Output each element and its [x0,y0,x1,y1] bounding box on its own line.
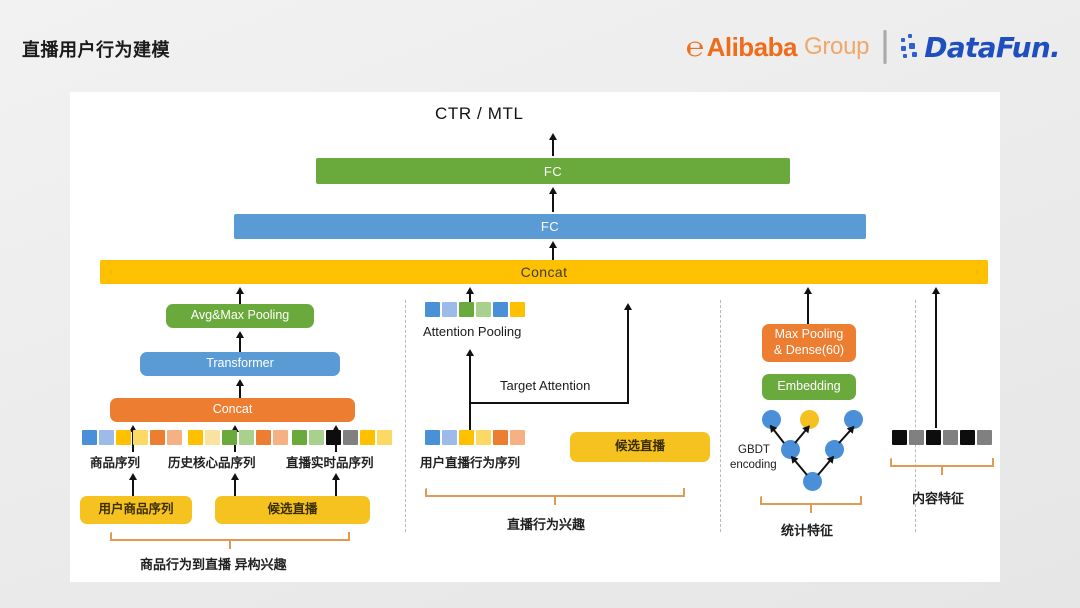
swatch-0 [82,430,97,445]
separator-1 [405,300,406,532]
swatch-5 [377,430,392,445]
gbdt-label-line2: encoding [730,459,777,471]
arrow-userlive-to-attention [465,350,475,430]
max-pooling-line2: & Dense(60) [774,343,844,359]
input-box-candidate-live-1[interactable]: 候选直播 [215,496,370,524]
datafun-logo: DataFun. [901,31,1060,64]
alibaba-group-logo: ℮ Alibaba Group [687,32,869,63]
transformer-box[interactable]: Transformer [140,352,340,376]
swatch-0 [188,430,203,445]
gbdt-edge-root-to-midright [817,456,834,476]
swatch-3 [133,430,148,445]
swatch-2 [222,430,237,445]
arrow-candidate-to-strip2 [230,474,240,496]
page-title: 直播用户行为建模 [22,36,170,62]
swatch-3 [943,430,958,445]
seq-label-2: 历史核心品序列 [168,452,256,471]
concat-branch1-label: Concat [213,402,253,418]
swatch-4 [493,302,508,317]
commodity-strip-1 [82,430,182,445]
user-live-seq-strip [425,430,525,445]
swatch-2 [459,430,474,445]
arrow-fc-green-to-output [548,134,558,156]
gbdt-label-line1: GBDT [738,444,770,456]
gbdt-edge-root-to-midleft [791,456,808,476]
swatch-1 [99,430,114,445]
alibaba-group-word: Group [804,33,869,61]
swatch-0 [425,430,440,445]
swatch-2 [459,302,474,317]
input-box-candidate-live-2-label: 候选直播 [615,439,665,455]
max-pooling-line1: Max Pooling [775,327,844,343]
arrow-concat-to-fc-blue [548,242,558,262]
brace-branch4 [890,458,994,476]
swatch-1 [309,430,324,445]
seq-label-1: 商品序列 [90,452,140,471]
target-attention-connector [469,402,629,404]
brace-branch1 [110,532,350,550]
embedding-box[interactable]: Embedding [762,374,856,400]
transformer-label: Transformer [206,356,274,372]
output-label: CTR / MTL [435,104,524,124]
swatch-5 [167,430,182,445]
gbdt-edge-midright-to-leaf3 [838,426,854,444]
swatch-1 [909,430,924,445]
concat-main-bar[interactable]: Concat [100,260,988,284]
seq-label-3: 直播实时品序列 [286,452,374,471]
swatch-5 [510,302,525,317]
swatch-2 [326,430,341,445]
arrow-fc-blue-to-fc-green [548,188,558,212]
swatch-4 [360,430,375,445]
swatch-0 [292,430,307,445]
swatch-4 [493,430,508,445]
input-box-user-commodity-seq-label: 用户商品序列 [98,502,173,518]
content-feature-strip [892,430,992,445]
diagram-canvas: CTR / MTL FC FC Concat [70,92,1000,582]
swatch-2 [116,430,131,445]
alibaba-mark-icon: ℮ [686,32,705,63]
gbdt-edge-midleft-to-leaf2 [794,426,810,444]
fc-blue-label: FC [541,219,559,234]
swatch-0 [425,302,440,317]
swatch-3 [476,430,491,445]
arrow-candidate-to-strip3 [331,474,341,496]
swatch-4 [960,430,975,445]
brace-label-branch3: 统计特征 [781,520,833,539]
swatch-0 [892,430,907,445]
arrow-transformer-to-pooling [235,332,245,352]
slide-root: 直播用户行为建模 ℮ Alibaba Group DataFun. CTR / … [0,0,1080,608]
brace-branch3 [760,496,862,514]
brace-label-branch4: 内容特征 [912,488,964,507]
swatch-4 [256,430,271,445]
swatch-1 [205,430,220,445]
swatch-1 [442,302,457,317]
commodity-strip-3 [292,430,392,445]
arrow-candidate-to-attention [623,304,633,404]
swatch-1 [442,430,457,445]
target-attention-label: Target Attention [500,378,590,393]
input-box-candidate-live-1-label: 候选直播 [267,502,317,518]
logo-bar: ℮ Alibaba Group DataFun. [687,24,1060,70]
logo-divider [883,30,887,64]
swatch-4 [150,430,165,445]
concat-branch1-box[interactable]: Concat [110,398,355,422]
input-box-user-commodity-seq[interactable]: 用户商品序列 [80,496,192,524]
separator-2 [720,300,721,532]
brace-branch2 [425,488,685,506]
attention-pooling-strip [425,302,525,317]
swatch-5 [273,430,288,445]
swatch-3 [343,430,358,445]
swatch-5 [510,430,525,445]
max-pooling-dense-box[interactable]: Max Pooling & Dense(60) [762,324,856,362]
concat-main-label: Concat [521,264,568,280]
fc-blue-bar[interactable]: FC [234,214,866,239]
attention-pooling-label: Attention Pooling [423,324,521,339]
fc-green-bar[interactable]: FC [316,158,790,184]
alibaba-wordmark: Alibaba [707,32,797,63]
avg-max-pooling-label: Avg&Max Pooling [191,308,289,324]
arrow-concat-to-transformer [235,380,245,398]
input-box-candidate-live-2[interactable]: 候选直播 [570,432,710,462]
swatch-2 [926,430,941,445]
fc-green-label: FC [544,164,562,179]
user-live-seq-label: 用户直播行为序列 [420,452,520,471]
arrow-branch4-to-concat [931,288,941,428]
datafun-dots-icon [901,34,923,60]
commodity-strip-2 [188,430,288,445]
embedding-label: Embedding [777,379,840,395]
arrow-userseq-to-strip1 [128,474,138,496]
swatch-3 [476,302,491,317]
avg-max-pooling-box[interactable]: Avg&Max Pooling [166,304,314,328]
swatch-5 [977,430,992,445]
brace-label-branch1: 商品行为到直播 异构兴趣 [140,554,287,573]
gbdt-edge-midleft-to-leaf1 [770,425,785,444]
brace-label-branch2: 直播行为兴趣 [507,514,585,533]
swatch-3 [239,430,254,445]
datafun-wordmark: DataFun. [924,31,1060,64]
